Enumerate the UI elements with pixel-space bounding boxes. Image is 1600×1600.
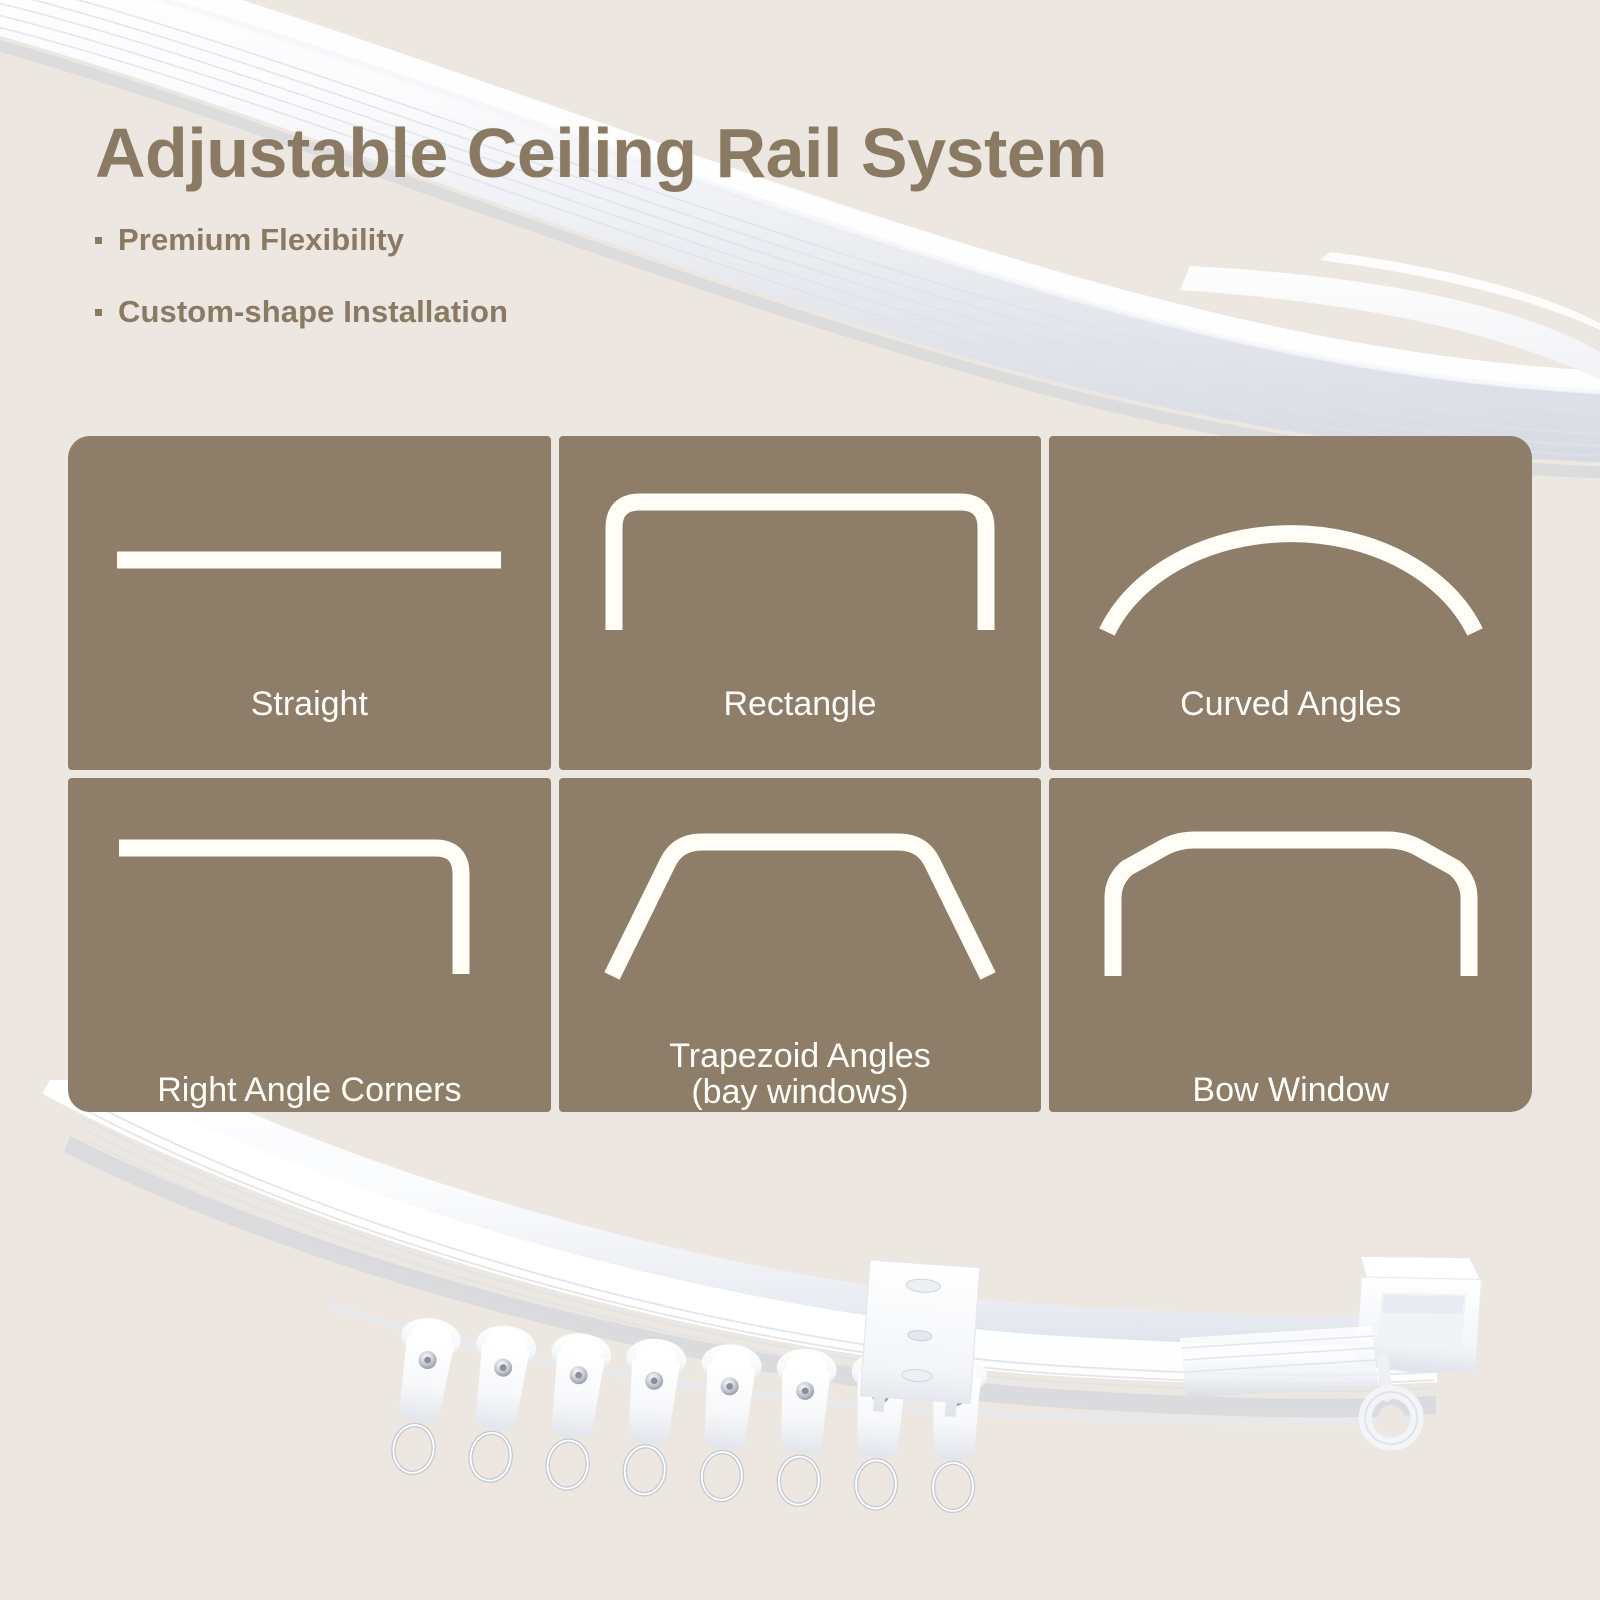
ceiling-mount-bracket bbox=[860, 1260, 980, 1417]
bullet-dot-icon bbox=[95, 309, 102, 316]
arc-rail-icon bbox=[1049, 436, 1532, 684]
trapezoid-rail-icon bbox=[559, 778, 1042, 1026]
bullet-dot-icon bbox=[95, 237, 102, 244]
shape-card-label: Right Angle Corners bbox=[147, 1072, 471, 1108]
shape-options-grid: Straight Rectangle Curved Angles bbox=[68, 436, 1532, 1112]
shape-card-label: Straight bbox=[241, 686, 378, 722]
shape-card-right-angle-corners[interactable]: Right Angle Corners bbox=[68, 778, 551, 1112]
end-cap-with-hook-ring bbox=[1345, 1249, 1485, 1451]
feature-bullet-label: Premium Flexibility bbox=[118, 222, 404, 258]
feature-bullet-label: Custom-shape Installation bbox=[118, 294, 508, 330]
bottom-rail-photo bbox=[0, 1080, 1600, 1600]
feature-bullet-premium-flexibility: Premium Flexibility bbox=[95, 222, 1107, 258]
right-angle-rail-icon bbox=[68, 778, 551, 1026]
shape-card-bow-window[interactable]: Bow Window bbox=[1049, 778, 1532, 1112]
shape-card-label: Bow Window bbox=[1182, 1072, 1399, 1108]
header: Adjustable Ceiling Rail System Premium F… bbox=[95, 118, 1107, 366]
straight-rail-icon bbox=[68, 436, 551, 684]
shape-card-label: Curved Angles bbox=[1170, 686, 1411, 722]
shape-card-label: Trapezoid Angles (bay windows) bbox=[659, 1038, 940, 1111]
page-title: Adjustable Ceiling Rail System bbox=[95, 118, 1107, 188]
glider-group bbox=[380, 1314, 987, 1512]
feature-bullet-custom-shape-installation: Custom-shape Installation bbox=[95, 294, 1107, 330]
product-infographic: Adjustable Ceiling Rail System Premium F… bbox=[0, 0, 1600, 1600]
shape-card-label: Rectangle bbox=[713, 686, 886, 722]
shape-card-trapezoid-angles[interactable]: Trapezoid Angles (bay windows) bbox=[559, 778, 1042, 1112]
rectangle-rail-icon bbox=[559, 436, 1042, 684]
shape-card-rectangle[interactable]: Rectangle bbox=[559, 436, 1042, 770]
shape-card-straight[interactable]: Straight bbox=[68, 436, 551, 770]
shape-card-curved-angles[interactable]: Curved Angles bbox=[1049, 436, 1532, 770]
bow-window-rail-icon bbox=[1049, 778, 1532, 1026]
